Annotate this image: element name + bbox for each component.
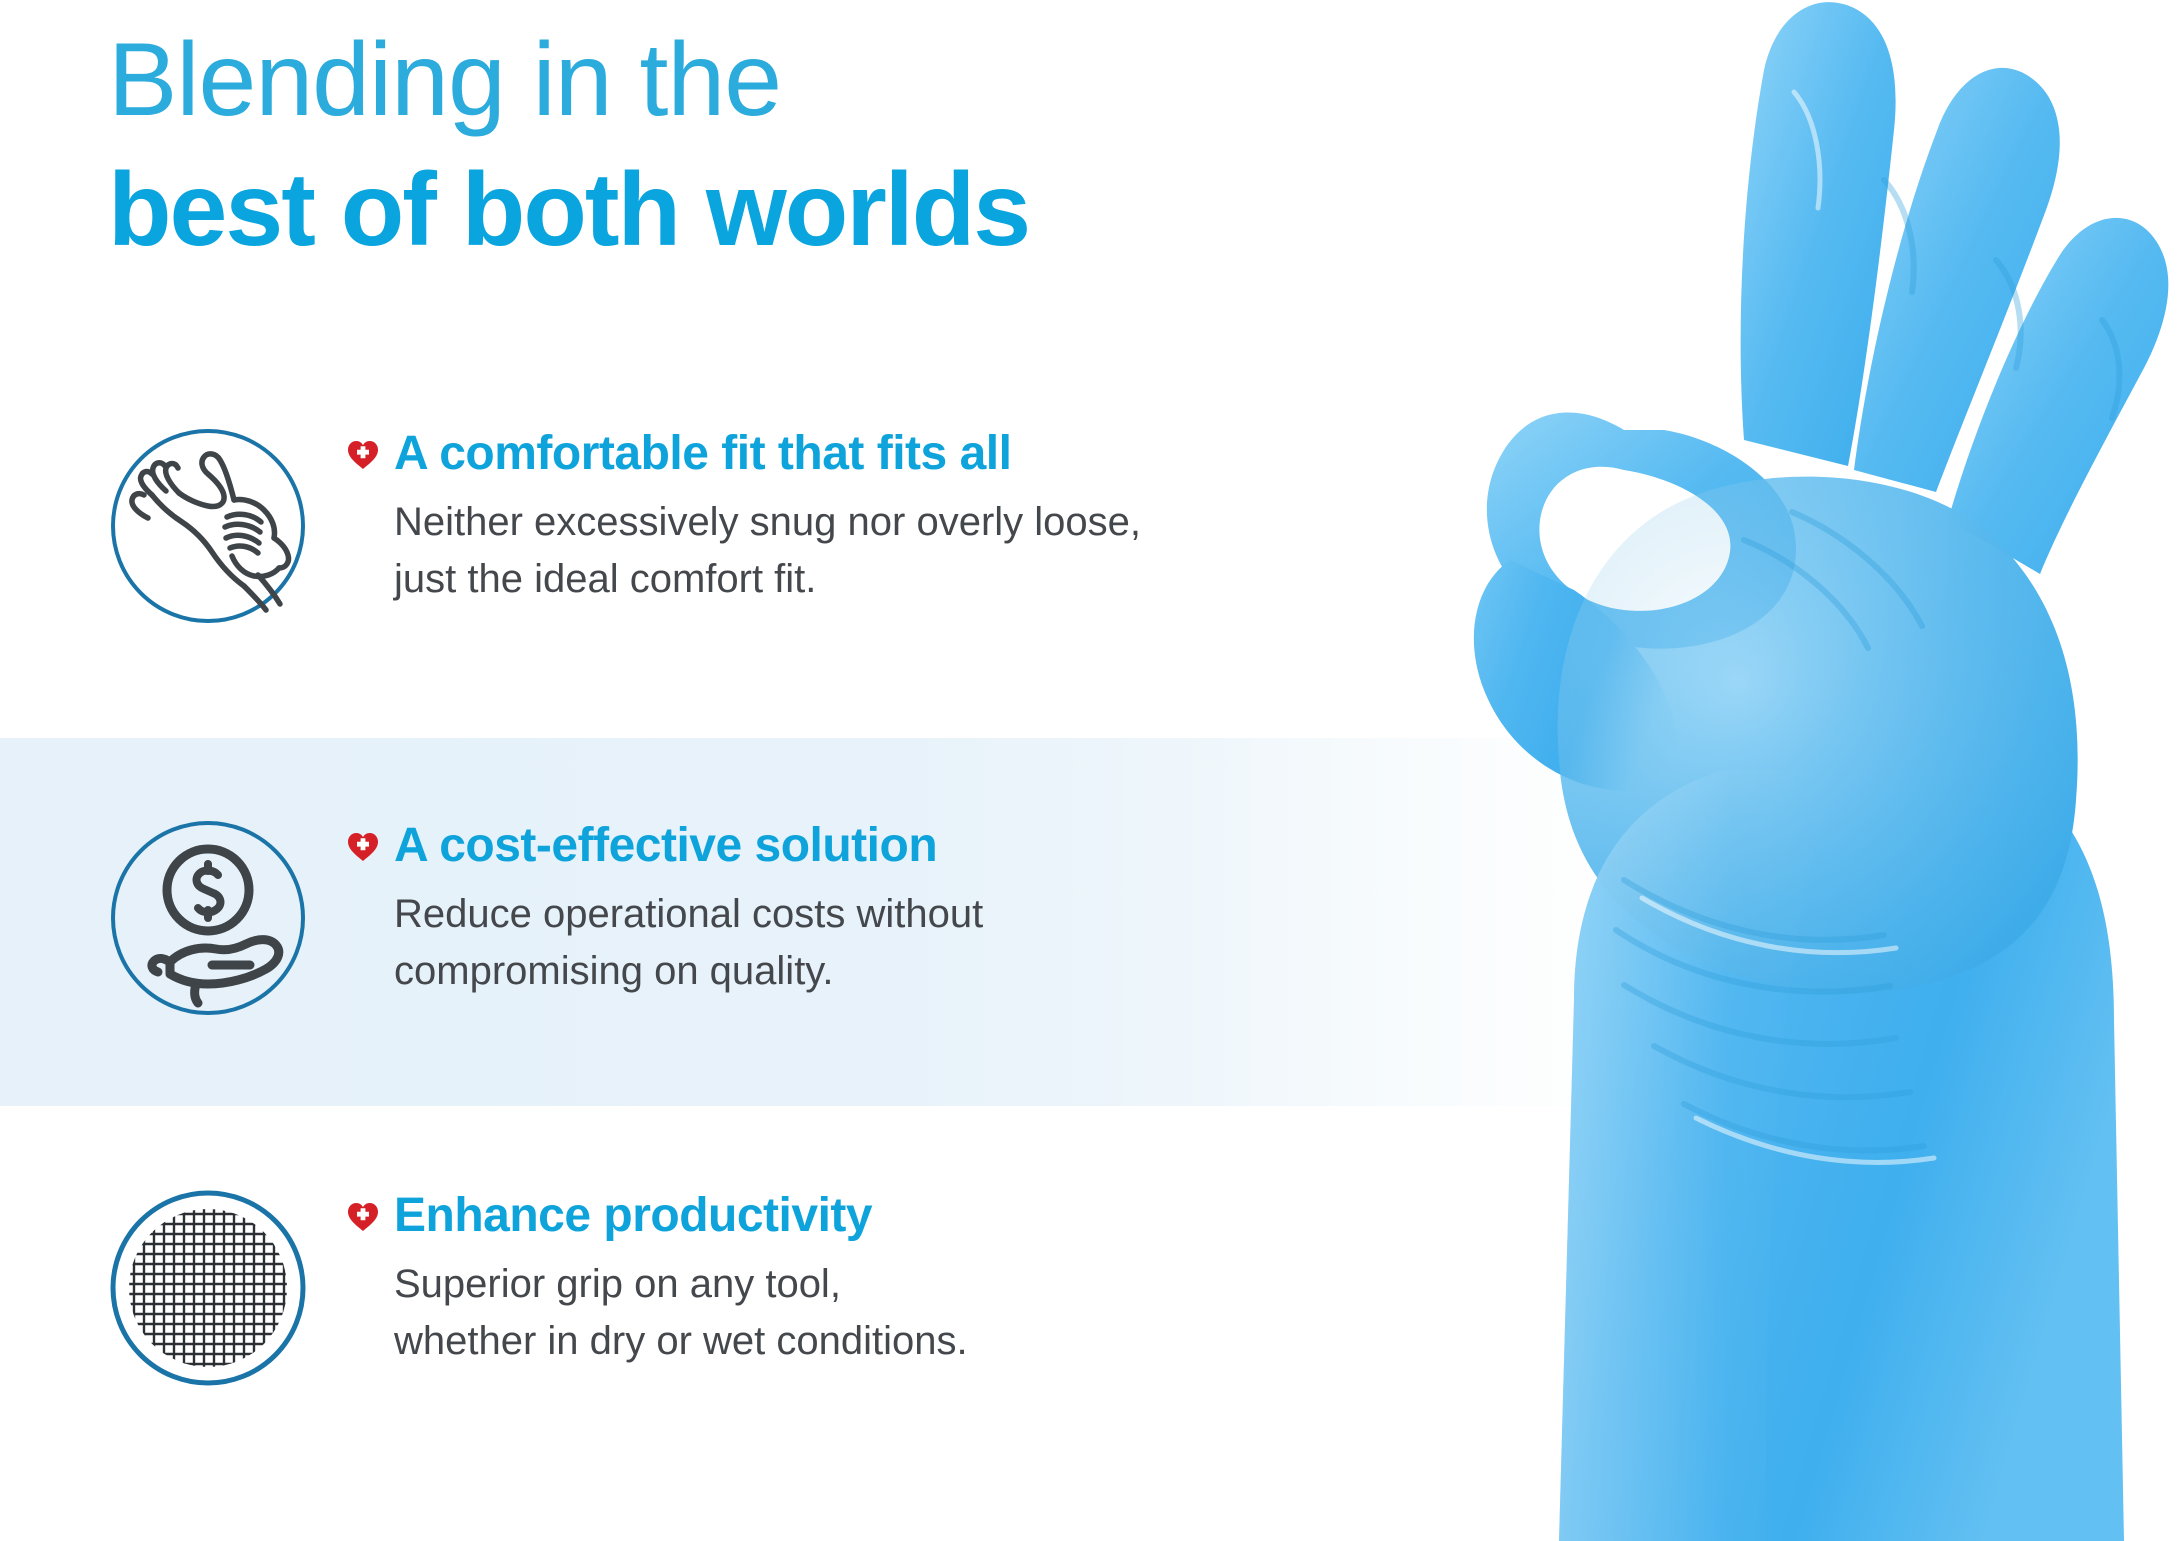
feature-text-block: A cost-effective solution Reduce operati… <box>346 812 983 1000</box>
poster-root: Blending in the best of both worlds <box>0 0 2184 1541</box>
heart-cross-icon <box>346 830 380 864</box>
feature-text-block: Enhance productivity Superior grip on an… <box>346 1182 968 1370</box>
heart-cross-icon <box>346 1200 380 1234</box>
glove-donning-icon <box>108 426 308 626</box>
feature-description-line-1: Neither excessively snug nor overly loos… <box>394 494 1141 551</box>
headline-line-1: Blending in the <box>108 28 1029 132</box>
feature-row-enhance-productivity: Enhance productivity Superior grip on an… <box>108 1182 968 1388</box>
feature-title: Enhance productivity <box>394 1192 872 1240</box>
blue-nitrile-glove-ok-gesture-photo <box>1324 0 2184 1541</box>
feature-description-line-1: Superior grip on any tool, <box>394 1256 968 1313</box>
feature-title: A cost-effective solution <box>394 822 937 870</box>
feature-description: Neither excessively snug nor overly loos… <box>394 494 1141 608</box>
feature-description: Superior grip on any tool, whether in dr… <box>394 1256 968 1370</box>
feature-row-comfortable-fit: A comfortable fit that fits all Neither … <box>108 420 1141 626</box>
feature-description-line-2: just the ideal comfort fit. <box>394 551 1141 608</box>
feature-description-line-2: compromising on quality. <box>394 943 983 1000</box>
page-title: Blending in the best of both worlds <box>108 28 1029 262</box>
dollar-coin-in-hand-icon <box>108 818 308 1018</box>
feature-title-row: A cost-effective solution <box>346 822 983 870</box>
feature-description-line-1: Reduce operational costs without <box>394 886 983 943</box>
headline-line-2: best of both worlds <box>108 158 1029 262</box>
heart-cross-icon <box>346 438 380 472</box>
feature-title: A comfortable fit that fits all <box>394 430 1011 478</box>
textured-grip-mesh-icon <box>108 1188 308 1388</box>
feature-text-block: A comfortable fit that fits all Neither … <box>346 420 1141 608</box>
feature-description: Reduce operational costs without comprom… <box>394 886 983 1000</box>
feature-title-row: Enhance productivity <box>346 1192 968 1240</box>
feature-row-cost-effective: A cost-effective solution Reduce operati… <box>108 812 983 1018</box>
feature-description-line-2: whether in dry or wet conditions. <box>394 1313 968 1370</box>
feature-title-row: A comfortable fit that fits all <box>346 430 1141 478</box>
